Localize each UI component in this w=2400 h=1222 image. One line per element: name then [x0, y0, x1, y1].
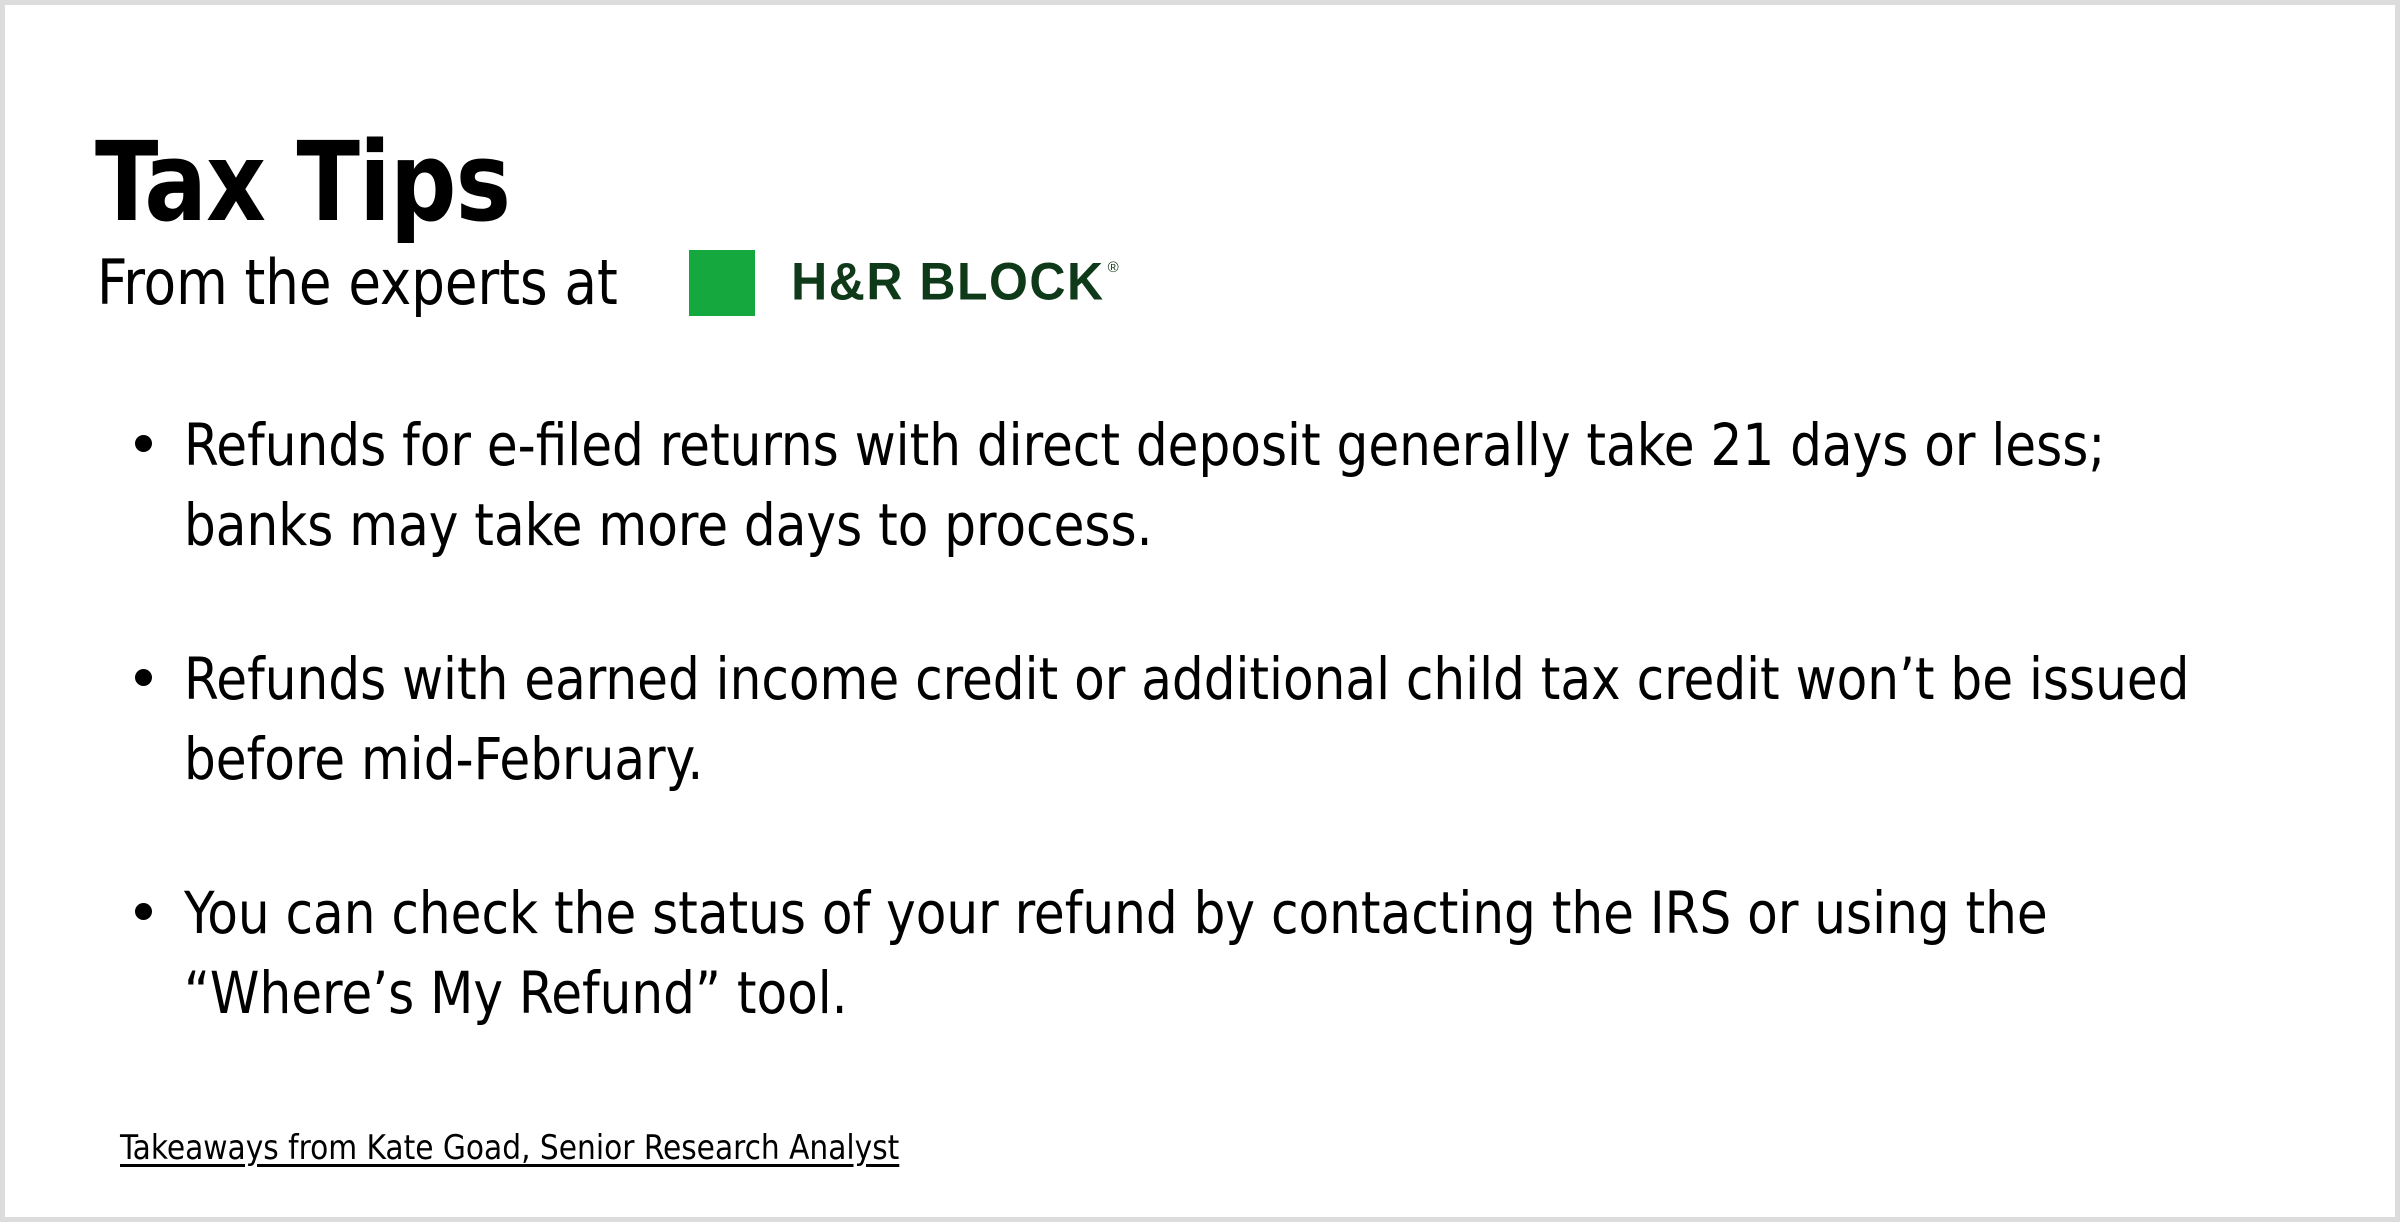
- list-item: Refunds for e-filed returns with direct …: [135, 405, 2325, 565]
- list-item-text: You can check the status of your refund …: [184, 873, 2239, 1033]
- list-item: Refunds with earned income credit or add…: [135, 639, 2325, 799]
- bullet-dot-icon: [135, 435, 152, 452]
- list-item-text: Refunds for e-filed returns with direct …: [184, 405, 2239, 565]
- page-title: Tax Tips: [95, 127, 510, 237]
- list-item: You can check the status of your refund …: [135, 873, 2325, 1033]
- subtitle-text: From the experts at: [97, 252, 618, 314]
- hr-block-logo: H&R BLOCK ®: [689, 250, 1119, 316]
- list-item-text: Refunds with earned income credit or add…: [184, 639, 2239, 799]
- attribution-footer: Takeaways from Kate Goad, Senior Researc…: [120, 1130, 899, 1167]
- bullet-dot-icon: [135, 669, 152, 686]
- slide-canvas: Tax Tips From the experts at H&R BLOCK ®…: [0, 0, 2400, 1222]
- hr-block-wordmark: H&R BLOCK ®: [791, 258, 1119, 308]
- hr-block-wordmark-text: H&R BLOCK: [791, 255, 1104, 308]
- registered-trademark-icon: ®: [1108, 260, 1119, 275]
- subtitle-row: From the experts at H&R BLOCK ®: [97, 243, 1119, 323]
- slide-content: Tax Tips From the experts at H&R BLOCK ®…: [5, 5, 2395, 1217]
- bullet-dot-icon: [135, 903, 152, 920]
- green-square-icon: [689, 250, 755, 316]
- bullet-list: Refunds for e-filed returns with direct …: [135, 405, 2325, 1033]
